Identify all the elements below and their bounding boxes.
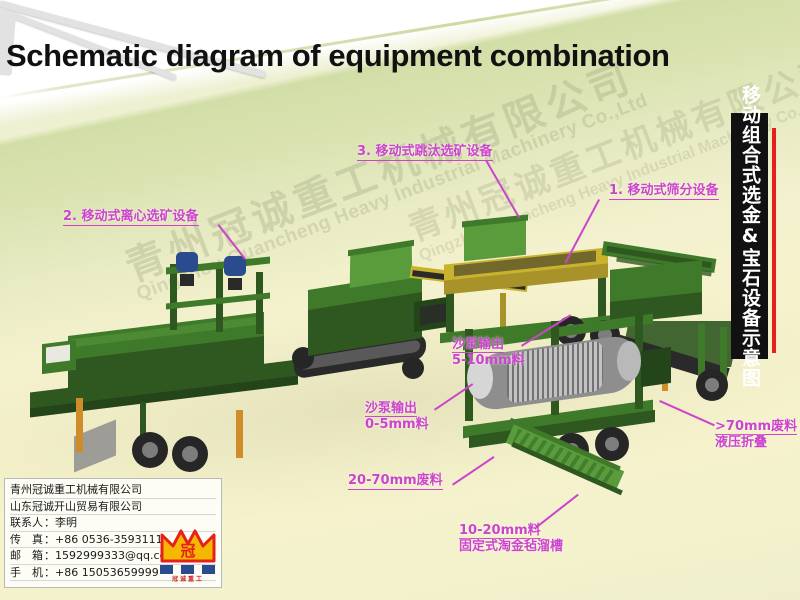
svg-text:冠: 冠	[180, 542, 195, 560]
callout-equipment-3: 3. 移动式跳汰选矿设备	[357, 144, 493, 161]
callout-equipment-3-text: 3. 移动式跳汰选矿设备	[357, 144, 493, 161]
contact-email-value: ：1592999333@qq.com	[44, 549, 177, 562]
contact-card: 青州冠诚重工机械有限公司 山东冠诚开山贸易有限公司 联系人：李明 传 真：+86…	[4, 478, 222, 588]
contact-company-1: 青州冠诚重工机械有限公司	[10, 482, 216, 499]
contact-fax-label: 传 真	[10, 532, 44, 548]
contact-mobile-label: 手 机	[10, 565, 44, 581]
crown-icon: 冠	[160, 529, 216, 563]
centrifuge-bowl-b	[224, 256, 246, 276]
motor-b	[228, 278, 242, 290]
support-leg-a	[76, 398, 83, 452]
logo-text: 冠诚重工	[158, 574, 218, 583]
callout-waste-70-line1: >70mm废料	[715, 419, 797, 435]
wheel-rear-rim	[182, 446, 198, 462]
wheel-front-rim	[142, 442, 158, 458]
contact-fax-value: ：+86 0536-3593111	[44, 533, 163, 546]
contact-company-2: 山东冠诚开山贸易有限公司	[10, 499, 216, 516]
callout-pump-5-10-line1: 沙泵输出	[452, 337, 504, 353]
callout-waste-20-70-text: 20-70mm废料	[348, 473, 443, 490]
vertical-banner-text: 移动组合式选金&宝石设备示意图	[740, 85, 759, 388]
callout-pump-0-5: 沙泵输出 0-5mm料	[365, 401, 429, 433]
trommel-drive-housing	[641, 347, 671, 387]
callout-feed-10-20-line1: 10-20mm料	[459, 523, 541, 539]
banner-red-rule	[772, 128, 776, 353]
trommel-drum-end-cap-2	[617, 341, 641, 381]
control-panel-label	[46, 345, 70, 364]
callout-equipment-1: 1. 移动式筛分设备	[609, 183, 719, 200]
contact-person-label: 联系人	[10, 515, 44, 531]
callout-feed-10-20-line2: 固定式淘金毡溜槽	[459, 539, 563, 554]
motor-a	[180, 274, 194, 286]
callout-waste-20-70: 20-70mm废料	[348, 473, 443, 490]
callout-waste-70-line2: 液压折叠	[715, 435, 797, 450]
contact-person-value: ：李明	[44, 516, 77, 529]
contact-email-label: 邮 箱	[10, 548, 44, 564]
company-logo: 冠 冠诚重工	[158, 527, 218, 583]
callout-pump-5-10-line2: 5-10mm料	[452, 353, 525, 368]
crawler-idler-rear	[402, 357, 424, 379]
callout-equipment-2-text: 2. 移动式离心选矿设备	[63, 209, 199, 226]
support-leg-b	[236, 410, 243, 458]
vertical-banner: 移动组合式选金&宝石设备示意图	[731, 113, 768, 359]
callout-waste-70: >70mm废料 液压折叠	[715, 419, 797, 451]
callout-pump-0-5-line1: 沙泵输出	[365, 401, 417, 417]
callout-equipment-2: 2. 移动式离心选矿设备	[63, 209, 199, 226]
diagram-canvas: 青州冠诚重工机械有限公司 Qingzhou Guancheng Heavy In…	[0, 0, 800, 600]
stacker-wheel-a-rim	[705, 378, 719, 392]
page-title: Schematic diagram of equipment combinati…	[6, 38, 670, 74]
contact-mobile-value: ：+86 15053659999	[44, 566, 159, 579]
callout-feed-10-20: 10-20mm料 固定式淘金毡溜槽	[459, 523, 563, 555]
callout-pump-0-5-line2: 0-5mm料	[365, 417, 429, 432]
callout-pump-5-10: 沙泵输出 5-10mm料	[452, 337, 525, 369]
centrifuge-bowl-a	[176, 252, 198, 272]
callout-equipment-1-text: 1. 移动式筛分设备	[609, 183, 719, 200]
